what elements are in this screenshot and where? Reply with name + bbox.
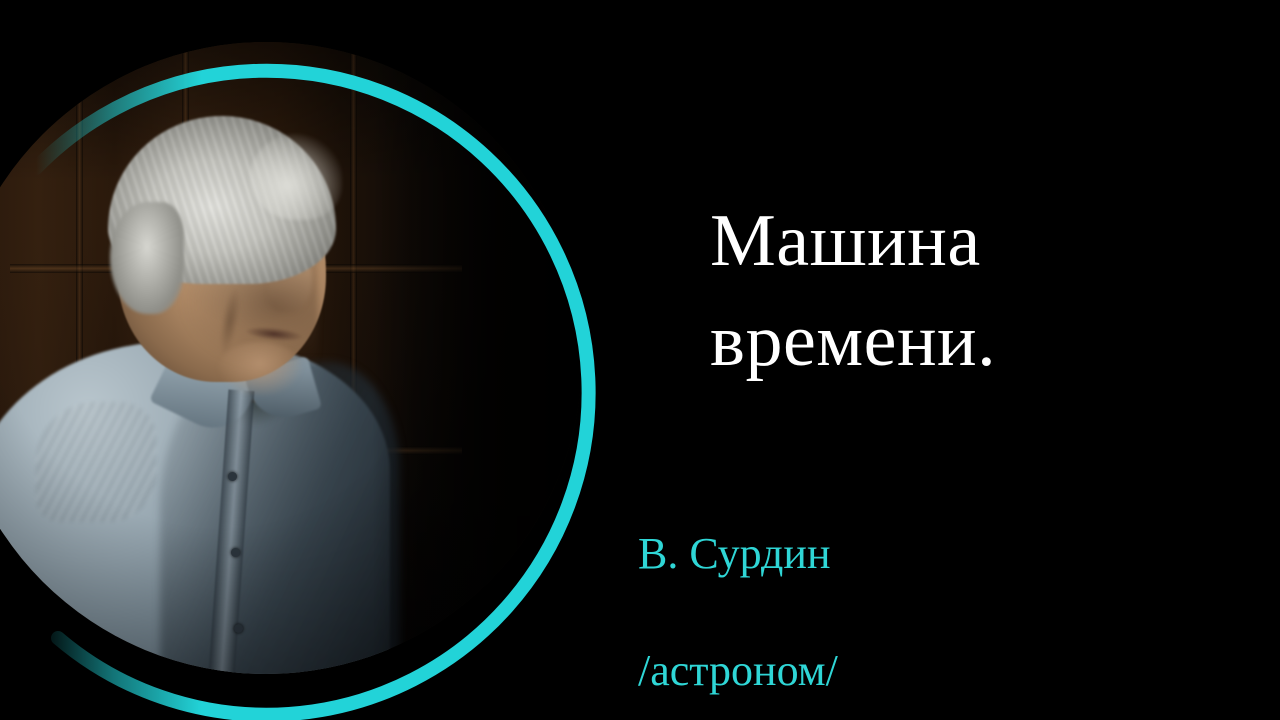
slide-canvas: Машина времени. В. Сурдин /астроном/ (0, 0, 1280, 720)
slide-title: Машина времени. (710, 192, 1250, 392)
speaker-role: /астроном/ (638, 642, 1198, 701)
speaker-credit: В. Сурдин /астроном/ (638, 466, 1198, 720)
portrait-container (0, 42, 582, 674)
portrait-ring-arc (0, 72, 544, 720)
speaker-name: В. Сурдин (638, 525, 1198, 584)
